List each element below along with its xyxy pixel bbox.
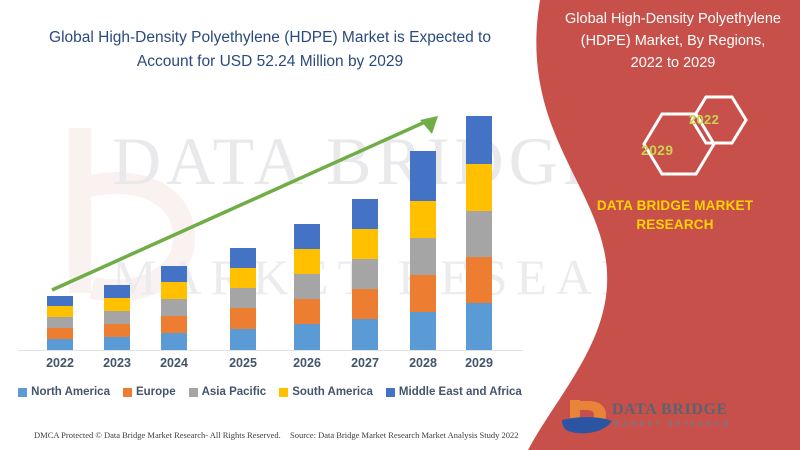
chart-legend: North AmericaEuropeAsia PacificSouth Ame… xyxy=(0,386,540,398)
panel-title-line-3: 2022 to 2029 xyxy=(548,52,798,74)
legend-label: South America xyxy=(292,386,373,398)
x-axis-label-2028: 2028 xyxy=(393,356,453,370)
x-axis-label-2023: 2023 xyxy=(87,356,147,370)
legend-swatch-icon xyxy=(18,388,27,397)
hexagon-pair xyxy=(614,92,774,192)
x-axis-label-2026: 2026 xyxy=(277,356,337,370)
hexagon-2029-label: 2029 xyxy=(641,142,673,158)
legend-item[interactable]: Middle East and Africa xyxy=(386,386,522,398)
panel-title: Global High-Density Polyethylene (HDPE) … xyxy=(548,8,798,74)
growth-arrow xyxy=(0,0,540,360)
legend-label: North America xyxy=(31,386,110,398)
legend-item[interactable]: Asia Pacific xyxy=(189,386,267,398)
brand-line-2: RESEARCH xyxy=(560,215,790,234)
x-axis-label-2022: 2022 xyxy=(30,356,90,370)
arrow-head xyxy=(420,116,438,134)
footer-copyright: DMCA Protected © Data Bridge Market Rese… xyxy=(34,430,281,440)
hexagon-2022-label: 2022 xyxy=(689,112,719,127)
legend-item[interactable]: South America xyxy=(279,386,373,398)
legend-item[interactable]: North America xyxy=(18,386,110,398)
legend-label: Middle East and Africa xyxy=(399,386,522,398)
stacked-bar-chart: 20222023202420252026202720282029 xyxy=(0,0,540,360)
arrow-line xyxy=(52,122,425,290)
x-axis-label-2027: 2027 xyxy=(335,356,395,370)
x-axis-label-2025: 2025 xyxy=(213,356,273,370)
legend-swatch-icon xyxy=(189,388,198,397)
brand-line-1: DATA BRIDGE MARKET xyxy=(560,196,790,215)
x-axis-label-2024: 2024 xyxy=(144,356,204,370)
legend-item[interactable]: Europe xyxy=(123,386,176,398)
company-logo-subtitle: MARKET RESEARCH xyxy=(613,420,732,428)
x-axis-label-2029: 2029 xyxy=(449,356,509,370)
legend-swatch-icon xyxy=(386,388,395,397)
legend-swatch-icon xyxy=(123,388,132,397)
company-logo-name: DATA BRIDGE xyxy=(612,401,728,419)
legend-swatch-icon xyxy=(279,388,288,397)
legend-label: Europe xyxy=(136,386,176,398)
legend-label: Asia Pacific xyxy=(202,386,267,398)
panel-title-line-1: Global High-Density Polyethylene xyxy=(548,8,798,30)
panel-title-line-2: (HDPE) Market, By Regions, xyxy=(548,30,798,52)
x-axis-labels: 20222023202420252026202720282029 xyxy=(0,356,540,376)
infographic-page: DATA BRIDGE MARKET RESEARCH Global High-… xyxy=(0,0,800,450)
brand-name: DATA BRIDGE MARKET RESEARCH xyxy=(560,196,790,234)
footer-source: Source: Data Bridge Market Research Mark… xyxy=(290,430,519,440)
